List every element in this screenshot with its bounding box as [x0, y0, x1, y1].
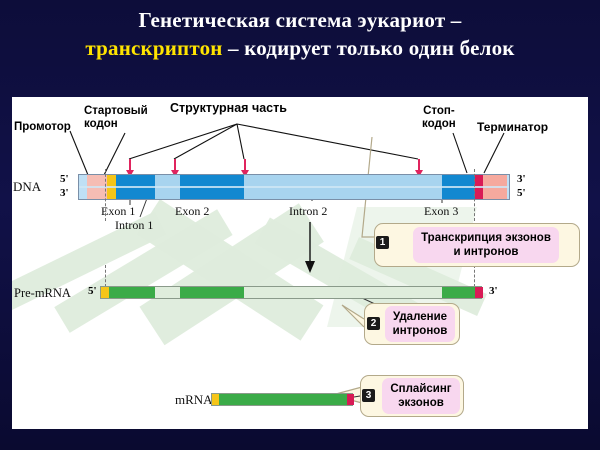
guide-start-codon — [105, 169, 106, 221]
mrna-strand — [211, 393, 353, 406]
mrna-segment-exon3 — [322, 394, 347, 405]
pre-mrna-strand — [100, 286, 482, 299]
title-line-2: транскриптон – кодирует только один бело… — [0, 34, 600, 62]
step-number-2: 2 — [367, 317, 380, 330]
pre-mrna-segment-intron2 — [244, 287, 442, 298]
segment-label-intron1: Intron 1 — [115, 219, 153, 232]
label-promoter: Промотор — [14, 121, 71, 134]
dna-prime-3-left: 3' — [60, 187, 69, 199]
mrna-segment-stop — [347, 394, 354, 405]
pre-mrna-prime-3: 3' — [489, 285, 498, 297]
diagram-panel: Промотор Стартовый кодон Структурная час… — [12, 97, 588, 429]
dna-strand-divider — [79, 186, 509, 188]
dna-strand — [78, 174, 510, 200]
pre-mrna-segment-exon1 — [109, 287, 155, 298]
step-number-3: 3 — [362, 389, 375, 402]
pre-mrna-segment-cap — [101, 287, 109, 298]
label-terminator: Терминатор — [477, 121, 548, 134]
slide: Генетическая система эукариот – транскри… — [0, 0, 600, 450]
segment-label-intron2: Intron 2 — [289, 205, 327, 218]
row-label-dna: DNA — [13, 180, 41, 193]
guide-pre-mrna-start — [105, 265, 106, 287]
segment-label-exon2: Exon 2 — [175, 205, 209, 218]
segment-label-exon3: Exon 3 — [424, 205, 458, 218]
label-stop-codon: Стоп- кодон — [422, 105, 456, 131]
label-structural-part: Структурная часть — [170, 102, 287, 115]
mrna-segment-exon2 — [263, 394, 323, 405]
page-title: Генетическая система эукариот – транскри… — [0, 6, 600, 62]
title-line-1: Генетическая система эукариот – — [0, 6, 600, 34]
step-callout-2-text: Удаление интронов — [385, 306, 456, 342]
row-label-pre-mrna: Pre-mRNA — [14, 287, 71, 300]
mrna-segment-exon1 — [219, 394, 264, 405]
step-callout-3[interactable]: Сплайсинг экзонов — [360, 375, 464, 417]
segment-label-exon1: Exon 1 — [101, 205, 135, 218]
mrna-segment-cap — [212, 394, 219, 405]
dna-prime-5-right: 5' — [517, 187, 526, 199]
title-rest: – кодирует только один белок — [223, 36, 515, 60]
guide-pre-mrna-end — [474, 265, 475, 287]
label-start-codon: Стартовый кодон — [84, 105, 148, 131]
row-label-mrna: mRNA — [175, 393, 213, 406]
pre-mrna-segment-exon3 — [442, 287, 475, 298]
pre-mrna-prime-5: 5' — [88, 285, 97, 297]
step-callout-3-text: Сплайсинг экзонов — [382, 378, 459, 414]
step-number-1: 1 — [376, 236, 389, 249]
dna-prime-3-right: 3' — [517, 173, 526, 185]
guide-stop-codon — [474, 169, 475, 221]
step-callout-1-text: Транскрипция экзонов и интронов — [413, 227, 559, 263]
title-accent-word: транскриптон — [85, 36, 222, 60]
pre-mrna-segment-stop — [475, 287, 483, 298]
pre-mrna-segment-exon2 — [180, 287, 244, 298]
pre-mrna-segment-intron1 — [155, 287, 180, 298]
dna-prime-5-left: 5' — [60, 173, 69, 185]
step-callout-1[interactable]: Транскрипция экзонов и интронов — [374, 223, 580, 267]
